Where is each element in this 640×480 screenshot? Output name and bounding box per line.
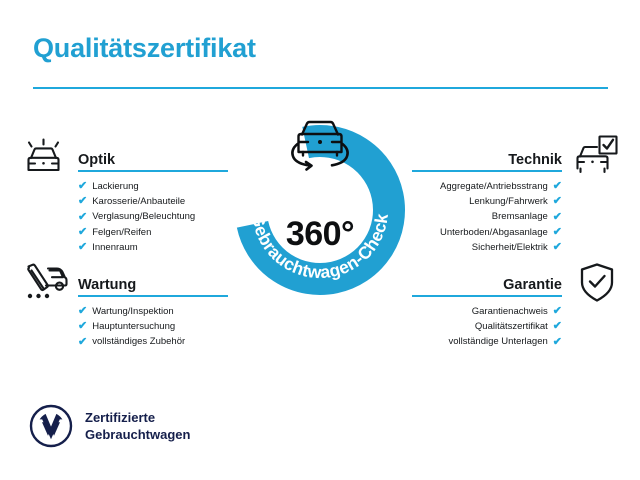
list-item: Aggregate/Antriebsstrang✔ (412, 179, 562, 194)
section-garantie: Garantie Garantienachweis✔ Qualitätszert… (412, 271, 562, 350)
section-technik: Technik Aggregate/Antriebsstrang✔ Lenkun… (412, 146, 562, 255)
vw-logo-icon (29, 404, 73, 448)
section-technik-list: Aggregate/Antriebsstrang✔ Lenkung/Fahrwe… (412, 179, 562, 255)
section-wartung-header: Wartung (78, 271, 228, 297)
check-icon: ✔ (78, 196, 87, 207)
list-item-label: Aggregate/Antriebsstrang (440, 179, 548, 194)
list-item-label: Wartung/Inspektion (92, 304, 174, 319)
list-item: ✔Felgen/Reifen (78, 225, 228, 240)
section-technik-title: Technik (508, 152, 562, 168)
check-icon: ✔ (78, 306, 87, 317)
header-divider (33, 87, 608, 89)
list-item: ✔Verglasung/Beleuchtung (78, 209, 228, 224)
section-optik-divider (78, 170, 228, 172)
section-garantie-list: Garantienachweis✔ Qualitätszertifikat✔ v… (412, 304, 562, 350)
list-item: vollständige Unterlagen✔ (412, 334, 562, 349)
list-item-label: Lenkung/Fahrwerk (469, 194, 548, 209)
check-icon: ✔ (553, 321, 562, 332)
list-item: Unterboden/Abgasanlage✔ (412, 225, 562, 240)
check-icon: ✔ (78, 242, 87, 253)
check-icon: ✔ (553, 181, 562, 192)
check-icon: ✔ (553, 242, 562, 253)
list-item-label: Unterboden/Abgasanlage (440, 225, 548, 240)
list-item-label: Verglasung/Beleuchtung (92, 209, 195, 224)
car-checkbox-icon (573, 134, 619, 176)
section-wartung-divider (78, 295, 228, 297)
list-item-label: Sicherheit/Elektrik (472, 240, 548, 255)
section-garantie-title: Garantie (503, 277, 562, 293)
check-icon: ✔ (553, 212, 562, 223)
list-item: ✔vollständiges Zubehör (78, 334, 228, 349)
section-garantie-divider (412, 295, 562, 297)
check-icon: ✔ (78, 321, 87, 332)
shield-check-icon (578, 262, 616, 304)
check-icon: ✔ (553, 306, 562, 317)
section-optik-title: Optik (78, 152, 115, 168)
list-item: ✔Wartung/Inspektion (78, 304, 228, 319)
section-wartung-list: ✔Wartung/Inspektion ✔Hauptuntersuchung ✔… (78, 304, 228, 350)
wrench-car-icon (22, 262, 66, 302)
list-item-label: vollständiges Zubehör (92, 334, 185, 349)
car-front-rotate-icon (284, 114, 356, 176)
list-item-label: Innenraum (92, 240, 137, 255)
section-optik-list: ✔Lackierung ✔Karosserie/Anbauteile ✔Verg… (78, 179, 228, 255)
section-technik-header: Technik (412, 146, 562, 172)
section-optik: Optik ✔Lackierung ✔Karosserie/Anbauteile… (78, 146, 228, 255)
list-item: Qualitätszertifikat✔ (412, 319, 562, 334)
list-item-label: Lackierung (92, 179, 138, 194)
list-item: Garantienachweis✔ (412, 304, 562, 319)
page-title: Qualitätszertifikat (33, 33, 256, 64)
section-wartung-title: Wartung (78, 277, 136, 293)
badge-360-gebrauchtwagen-check: Gebrauchtwagen-Check 360° (222, 112, 418, 308)
list-item-label: Karosserie/Anbauteile (92, 194, 185, 209)
list-item: ✔Hauptuntersuchung (78, 319, 228, 334)
list-item-label: Hauptuntersuchung (92, 319, 175, 334)
car-shine-icon (22, 136, 66, 176)
list-item: Sicherheit/Elektrik✔ (412, 240, 562, 255)
list-item-label: Garantienachweis (472, 304, 548, 319)
list-item: ✔Lackierung (78, 179, 228, 194)
list-item-label: Qualitätszertifikat (475, 319, 548, 334)
check-icon: ✔ (553, 337, 562, 348)
list-item: Lenkung/Fahrwerk✔ (412, 194, 562, 209)
list-item-label: Bremsanlage (492, 209, 548, 224)
check-icon: ✔ (78, 212, 87, 223)
check-icon: ✔ (553, 196, 562, 207)
check-icon: ✔ (78, 227, 87, 238)
list-item: ✔Karosserie/Anbauteile (78, 194, 228, 209)
section-wartung: Wartung ✔Wartung/Inspektion ✔Hauptunters… (78, 271, 228, 350)
list-item-label: Felgen/Reifen (92, 225, 151, 240)
section-optik-header: Optik (78, 146, 228, 172)
list-item-label: vollständige Unterlagen (448, 334, 547, 349)
check-icon: ✔ (78, 337, 87, 348)
list-item: Bremsanlage✔ (412, 209, 562, 224)
qualitaetszertifikat-page: Qualitätszertifikat Optik ✔Lackierung ✔K… (0, 0, 640, 480)
section-garantie-header: Garantie (412, 271, 562, 297)
list-item: ✔Innenraum (78, 240, 228, 255)
badge-value: 360° (222, 215, 418, 254)
footer-brand-label: Zertifizierte Gebrauchtwagen (85, 409, 190, 443)
check-icon: ✔ (553, 227, 562, 238)
footer-brand: Zertifizierte Gebrauchtwagen (29, 404, 190, 448)
section-technik-divider (412, 170, 562, 172)
check-icon: ✔ (78, 181, 87, 192)
